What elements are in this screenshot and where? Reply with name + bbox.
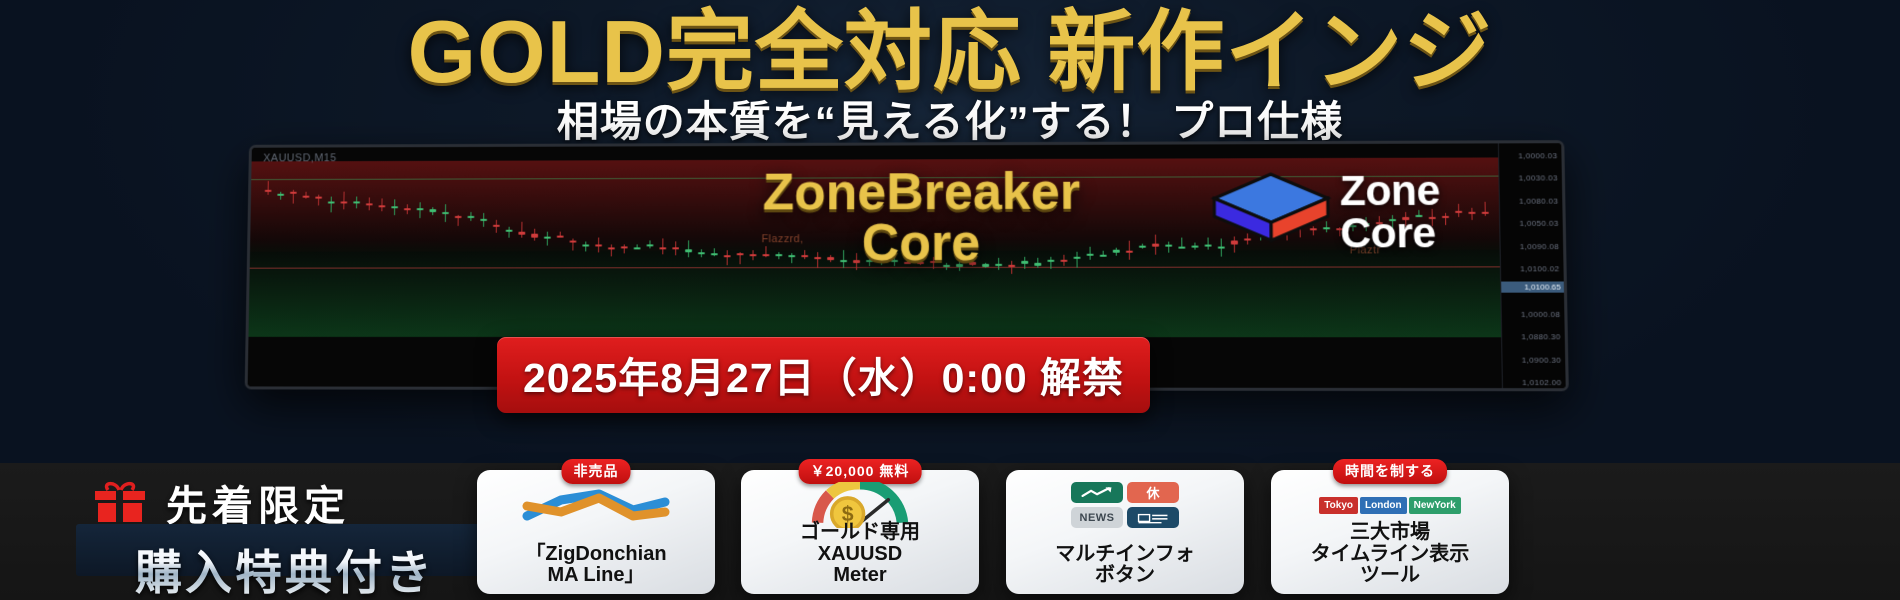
- session-london: London: [1360, 497, 1407, 514]
- holiday-icon: 休: [1127, 482, 1179, 503]
- brand-line2: Core: [1340, 212, 1441, 254]
- candle: [1178, 144, 1187, 391]
- session-bar-group: Tokyo London NewYork: [1319, 497, 1460, 514]
- bonus-line1: 先着限定: [166, 472, 350, 532]
- candle: [427, 147, 437, 391]
- multi-info-tiles-icon: 休 NEWS: [1006, 482, 1244, 528]
- candle: [478, 147, 488, 391]
- card-title-line: マルチインフォ: [1010, 544, 1240, 566]
- price-axis-tick: 1,0880.30: [1521, 332, 1561, 341]
- card-title: 「ZigDonchian MA Line」: [477, 544, 715, 587]
- article-icon: [1127, 507, 1179, 528]
- candle: [465, 147, 475, 391]
- price-axis-tick: 1,0050.03: [1519, 219, 1558, 228]
- product-name-overlay: ZoneBreaker Core: [672, 167, 1172, 270]
- price-axis: 1,0000.031,0030.031,0080.031,0050.031,00…: [1498, 143, 1566, 388]
- candle: [376, 147, 386, 391]
- card-badge: 時間を制する: [1333, 459, 1447, 484]
- candle: [414, 147, 424, 391]
- trend-up-icon: [1071, 482, 1123, 503]
- feature-card-xauusd-meter[interactable]: ￥20,000 無料 $ ゴールド専用 XAUUSD Meter: [741, 470, 979, 594]
- candle: [363, 147, 373, 391]
- cube-logo-icon: [1210, 170, 1332, 245]
- bonus-line2: 購入特典付き: [70, 534, 500, 600]
- card-badge: ￥20,000 無料: [799, 459, 922, 484]
- card-title: ゴールド専用 XAUUSD Meter: [741, 522, 979, 587]
- candle: [287, 148, 298, 392]
- card-title-line: MA Line」: [481, 565, 711, 587]
- card-title-line: ゴールド専用: [745, 522, 975, 544]
- price-axis-current: 1,0100.65: [1501, 282, 1564, 293]
- feature-card-multi-info-button[interactable]: 休 NEWS マルチインフォ ボタン: [1006, 470, 1244, 594]
- candle: [1191, 144, 1200, 391]
- feature-card-zigdonchian[interactable]: 非売品 「ZigDonchian MA Line」: [477, 470, 715, 594]
- card-title: マルチインフォ ボタン: [1006, 544, 1244, 587]
- session-newyork: NewYork: [1409, 497, 1461, 514]
- card-title: 三大市場 タイムライン表示 ツール: [1271, 522, 1509, 587]
- news-icon: NEWS: [1071, 507, 1123, 528]
- tile-group: 休 NEWS: [1071, 482, 1179, 528]
- price-axis-tick: 1,0100.02: [1520, 264, 1559, 273]
- candle: [338, 147, 349, 391]
- price-axis-tick: 1,0102.00: [1522, 378, 1562, 387]
- candle: [312, 147, 323, 391]
- candle: [350, 147, 360, 391]
- brand-line1: Zone: [1340, 170, 1441, 212]
- brand-name: Zone Core: [1340, 170, 1441, 255]
- bonus-block: 先着限定 購入特典付き: [70, 472, 500, 600]
- card-title-line: 三大市場: [1275, 522, 1505, 544]
- price-axis-tick: 1,0030.03: [1519, 174, 1558, 183]
- price-axis-tick: 1,0080.03: [1519, 196, 1558, 205]
- candle: [401, 147, 411, 391]
- card-badge: 非売品: [562, 459, 631, 484]
- price-axis-tick: 1,0090.08: [1520, 242, 1559, 251]
- chart-symbol-label: XAUUSD,M15: [263, 152, 336, 164]
- feature-card-market-timeline[interactable]: 時間を制する Tokyo London NewYork 三大市場 タイムライン表…: [1271, 470, 1509, 594]
- card-title-line: XAUUSD: [745, 544, 975, 566]
- product-name-line1: ZoneBreaker: [763, 163, 1081, 222]
- product-name-line2: Core: [862, 214, 981, 272]
- price-axis-tick: 1,0000.08: [1521, 310, 1560, 319]
- card-title-line: 「ZigDonchian: [481, 544, 711, 566]
- page-title: GOLD完全対応 新作インジ: [0, 6, 1900, 98]
- card-title-line: ボタン: [1010, 565, 1240, 587]
- price-axis-tick: 1,0900.30: [1522, 355, 1562, 364]
- candle: [452, 147, 462, 391]
- release-date-banner: 2025年8月27日（水）0:00 解禁: [497, 337, 1150, 413]
- card-title-line: タイムライン表示: [1275, 544, 1505, 566]
- candle: [299, 148, 310, 392]
- price-axis-tick: 1,0000.03: [1518, 151, 1557, 160]
- card-title-line: ツール: [1275, 565, 1505, 587]
- page-subtitle: 相場の本質を“見える化”する！ プロ仕様: [0, 88, 1900, 149]
- card-title-line: Meter: [745, 565, 975, 587]
- gift-icon: [92, 479, 148, 525]
- promo-banner: GOLD完全対応 新作インジ 相場の本質を“見える化”する！ プロ仕様 Flaz…: [0, 0, 1900, 600]
- candle: [325, 147, 336, 391]
- session-tokyo: Tokyo: [1319, 497, 1358, 514]
- candle: [440, 147, 450, 391]
- candle: [274, 148, 285, 392]
- release-date-text: 2025年8月27日（水）0:00 解禁: [523, 344, 1124, 404]
- candle: [389, 147, 399, 391]
- candle: [261, 148, 272, 392]
- zigzag-line-icon: [477, 482, 715, 528]
- bonus-row-first-come: 先着限定: [70, 472, 500, 532]
